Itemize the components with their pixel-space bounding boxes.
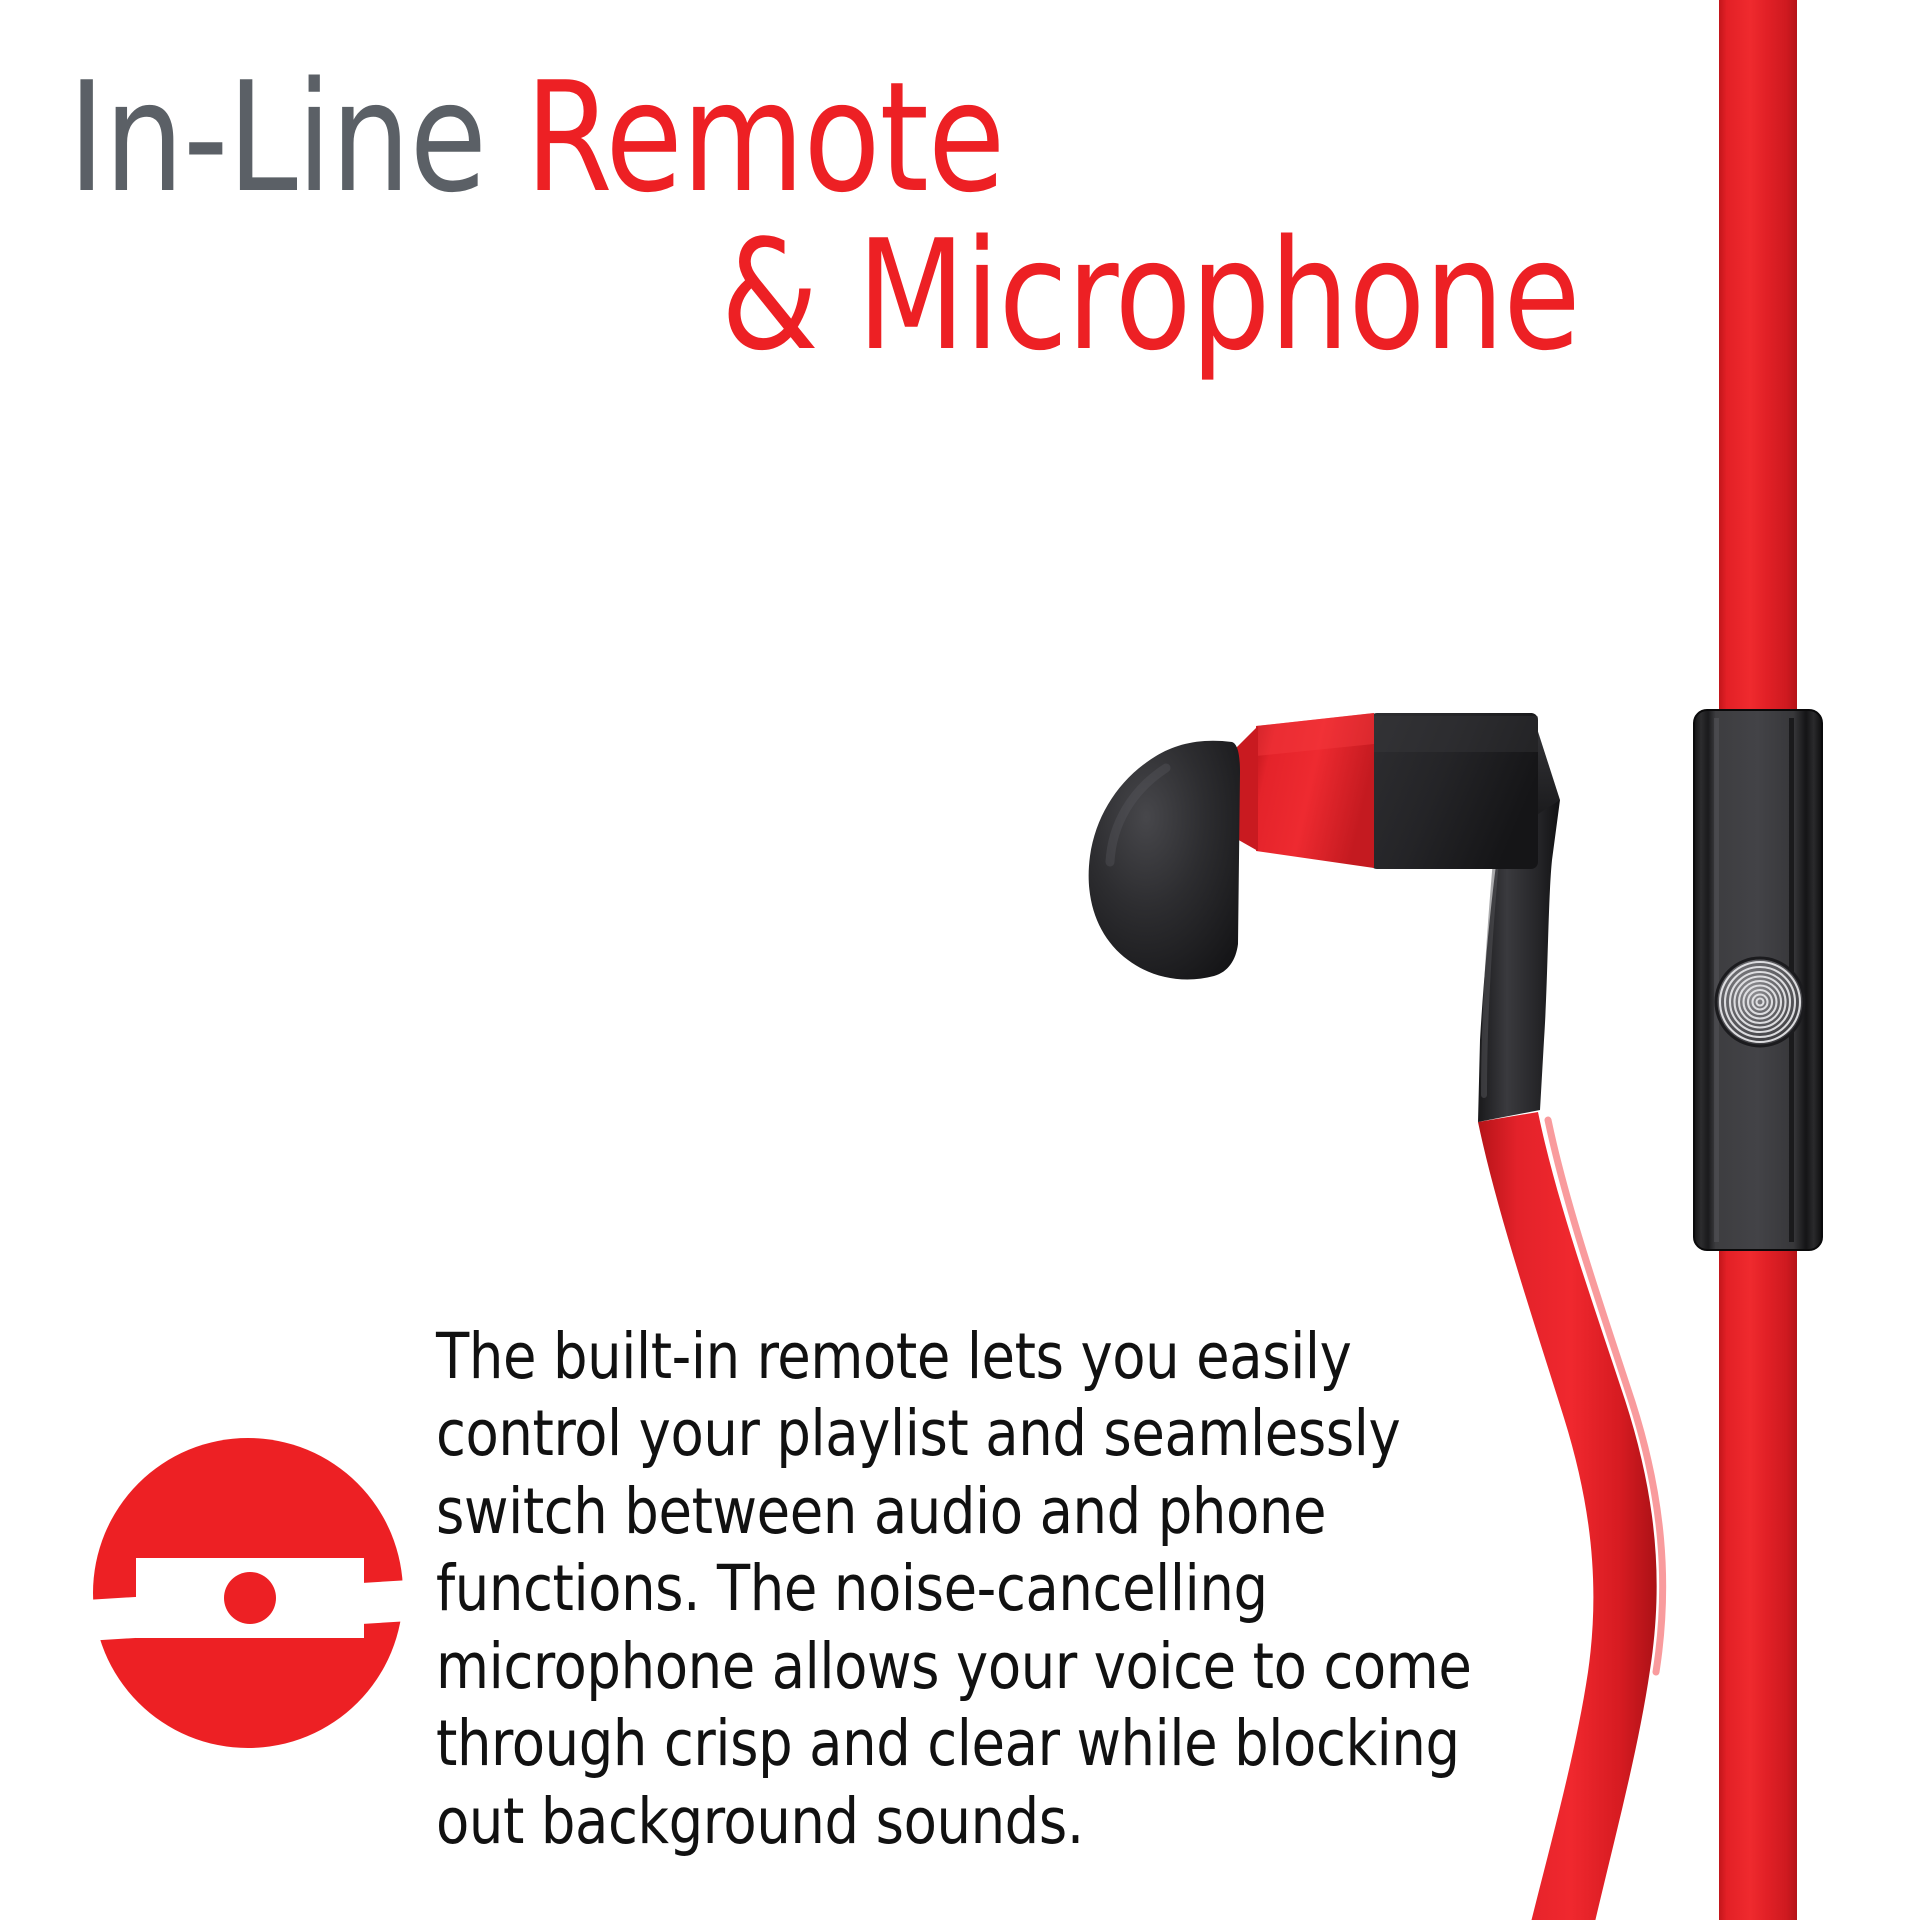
inline-remote-module xyxy=(1694,710,1822,1250)
earbud-ear-tip xyxy=(1089,741,1240,980)
inline-remote-icon-svg xyxy=(92,1437,404,1749)
headline-text-in-line: In-Line xyxy=(68,49,525,226)
earbud-red-accent xyxy=(1224,713,1375,868)
body-line: microphone allows your voice to come xyxy=(436,1628,1521,1705)
headline-line-2: & Microphone xyxy=(128,220,1600,372)
body-line: The built-in remote lets you easily xyxy=(436,1318,1521,1395)
headline: In-Line Remote & Microphone xyxy=(0,62,1600,372)
body-line: functions. The noise-cancelling xyxy=(436,1550,1521,1627)
body-line: switch between audio and phone xyxy=(436,1473,1521,1550)
feature-description: The built-in remote lets you easily cont… xyxy=(436,1318,1566,1860)
cable-upper-flat xyxy=(1719,0,1797,734)
body-line: through crisp and clear while blocking xyxy=(436,1705,1521,1782)
earbud-housing xyxy=(1370,713,1560,869)
cable-lower-flat xyxy=(1719,1230,1797,1920)
product-feature-panel: In-Line Remote & Microphone The built-in… xyxy=(0,0,1920,1920)
inline-remote-icon xyxy=(92,1437,404,1749)
earbud-strain-relief xyxy=(1478,800,1560,1122)
body-line: out background sounds. xyxy=(436,1783,1521,1860)
remote-microphone-grille xyxy=(1716,958,1804,1046)
headline-text-remote: Remote xyxy=(525,49,1004,226)
headline-line-1: In-Line Remote xyxy=(0,62,1472,214)
icon-remote-button xyxy=(224,1572,276,1624)
body-line: control your playlist and seamlessly xyxy=(436,1395,1521,1472)
